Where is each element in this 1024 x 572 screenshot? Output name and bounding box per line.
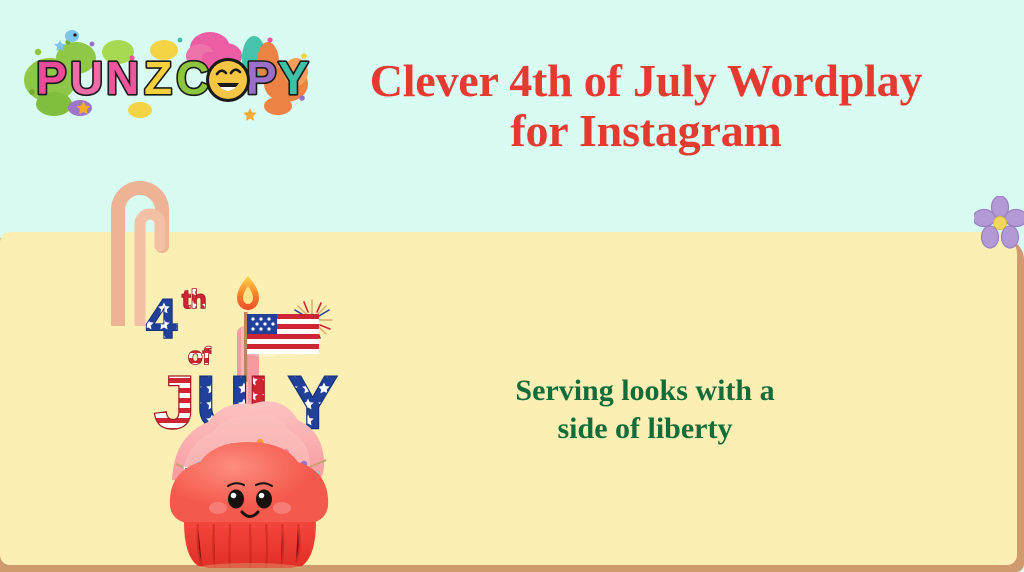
blush-left xyxy=(209,502,227,514)
page-title: Clever 4th of July Wordplay for Instagra… xyxy=(328,56,964,156)
card-caption: Serving looks with a side of liberty xyxy=(420,372,870,448)
punzcopy-logo[interactable]: P U N Z C P Y xyxy=(14,22,314,122)
svg-text:P: P xyxy=(246,52,277,104)
svg-text:J: J xyxy=(154,361,195,444)
svg-text:U: U xyxy=(70,52,103,104)
flower-icon xyxy=(974,196,1024,250)
svg-text:N: N xyxy=(106,52,139,104)
svg-text:Z: Z xyxy=(144,52,172,104)
blush-right xyxy=(273,502,291,514)
caption-line-1: Serving looks with a xyxy=(515,374,774,407)
svg-text:th: th xyxy=(182,284,207,314)
svg-text:Y: Y xyxy=(278,52,309,104)
svg-text:4: 4 xyxy=(146,287,177,350)
title-line-1: Clever 4th of July Wordplay xyxy=(370,55,923,106)
title-line-2: for Instagram xyxy=(328,106,964,156)
svg-text:P: P xyxy=(36,52,67,104)
fourth-of-july-cupcake-illustration: 4 th of J U L Y xyxy=(140,268,360,568)
laughing-face-icon xyxy=(206,58,250,102)
svg-text:C: C xyxy=(176,52,209,104)
caption-line-2: side of liberty xyxy=(420,410,870,448)
label-4th: 4 th xyxy=(146,284,207,350)
page-canvas: P U N Z C P Y xyxy=(0,0,1024,572)
